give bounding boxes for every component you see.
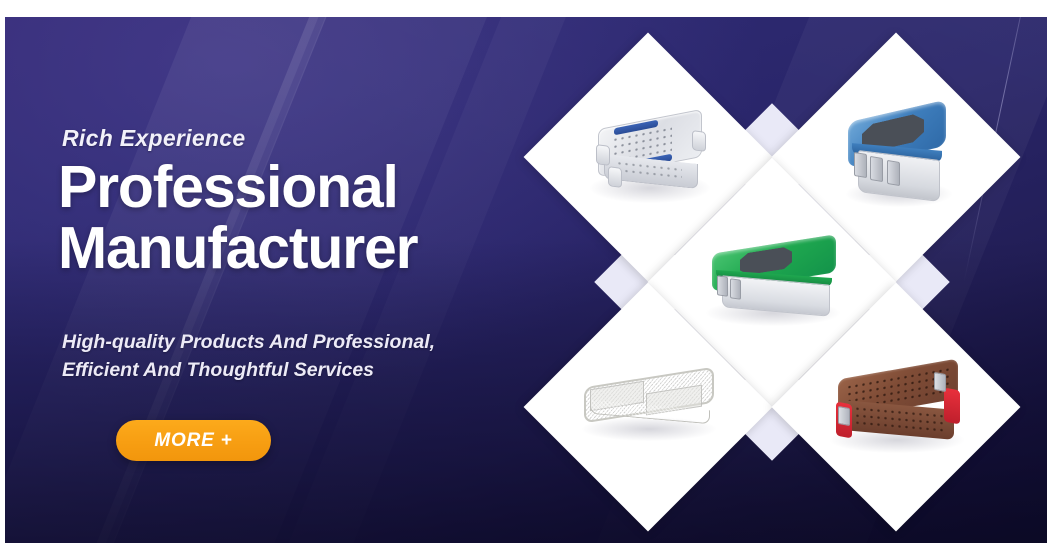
latch-1	[838, 406, 850, 426]
latch-2	[870, 156, 883, 182]
headline-copy-block: Rich Experience Professional Manufacture…	[58, 17, 528, 543]
subtitle-text: High-quality Products And Professional, …	[62, 329, 502, 384]
eyebrow-text: Rich Experience	[62, 125, 245, 152]
basket-corner-front	[608, 166, 622, 188]
product-image-green-lid-container	[702, 242, 844, 326]
headline-line-1: Professional	[58, 154, 398, 220]
promotional-banner: Rich Experience Professional Manufacture…	[0, 0, 1060, 548]
product-image-perforated-steel-basket	[588, 115, 712, 201]
basket-corner-left	[596, 144, 610, 166]
latch-1	[717, 275, 728, 297]
product-image-wire-mesh-tray	[578, 377, 720, 441]
latch-2	[934, 372, 946, 392]
latch-2	[730, 278, 741, 300]
product-diamond-grid	[502, 17, 1047, 543]
product-image-blue-lid-container	[842, 109, 954, 209]
red-end-cap-right	[944, 388, 960, 425]
page-title: Professional Manufacturer	[58, 157, 417, 279]
product-image-brown-perforated-container	[826, 367, 968, 453]
basket-corner-right	[692, 130, 706, 152]
more-button[interactable]: MORE +	[116, 420, 271, 461]
latch-3	[887, 160, 900, 186]
banner-stage: Rich Experience Professional Manufacture…	[5, 17, 1047, 543]
headline-line-2: Manufacturer	[58, 218, 417, 279]
latch-1	[854, 152, 867, 178]
